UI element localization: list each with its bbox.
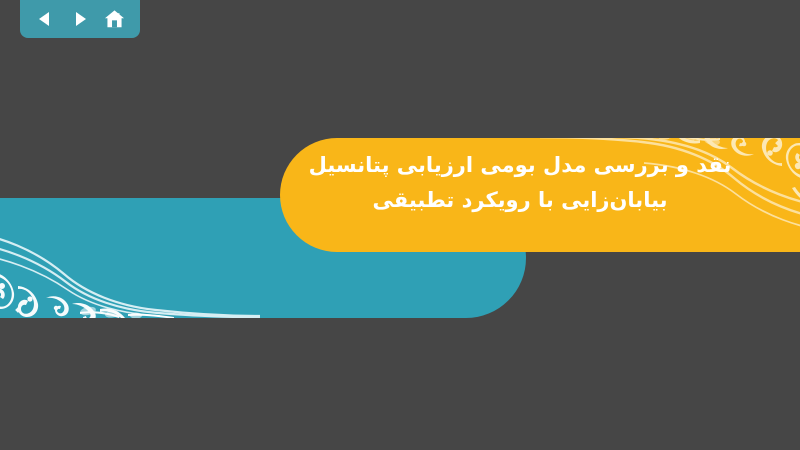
presentation-slide: نقد و بررسی مدل بومی ارزیابی پتانسیل بیا… bbox=[0, 0, 800, 450]
triangle-left-icon bbox=[36, 10, 54, 28]
triangle-right-icon bbox=[71, 10, 89, 28]
slide-navigation-toolbar bbox=[20, 0, 140, 38]
arabesque-ornament-teal bbox=[0, 198, 260, 318]
slide-title-line-2: بیابان‌زایی با رویکرد تطبیقی bbox=[300, 183, 740, 218]
home-slide-button[interactable] bbox=[100, 6, 130, 32]
home-icon bbox=[104, 9, 125, 29]
slide-title-line-1: نقد و بررسی مدل بومی ارزیابی پتانسیل bbox=[300, 148, 740, 183]
previous-slide-button[interactable] bbox=[30, 6, 60, 32]
slide-title: نقد و بررسی مدل بومی ارزیابی پتانسیل بیا… bbox=[300, 148, 740, 218]
next-slide-button[interactable] bbox=[65, 6, 95, 32]
